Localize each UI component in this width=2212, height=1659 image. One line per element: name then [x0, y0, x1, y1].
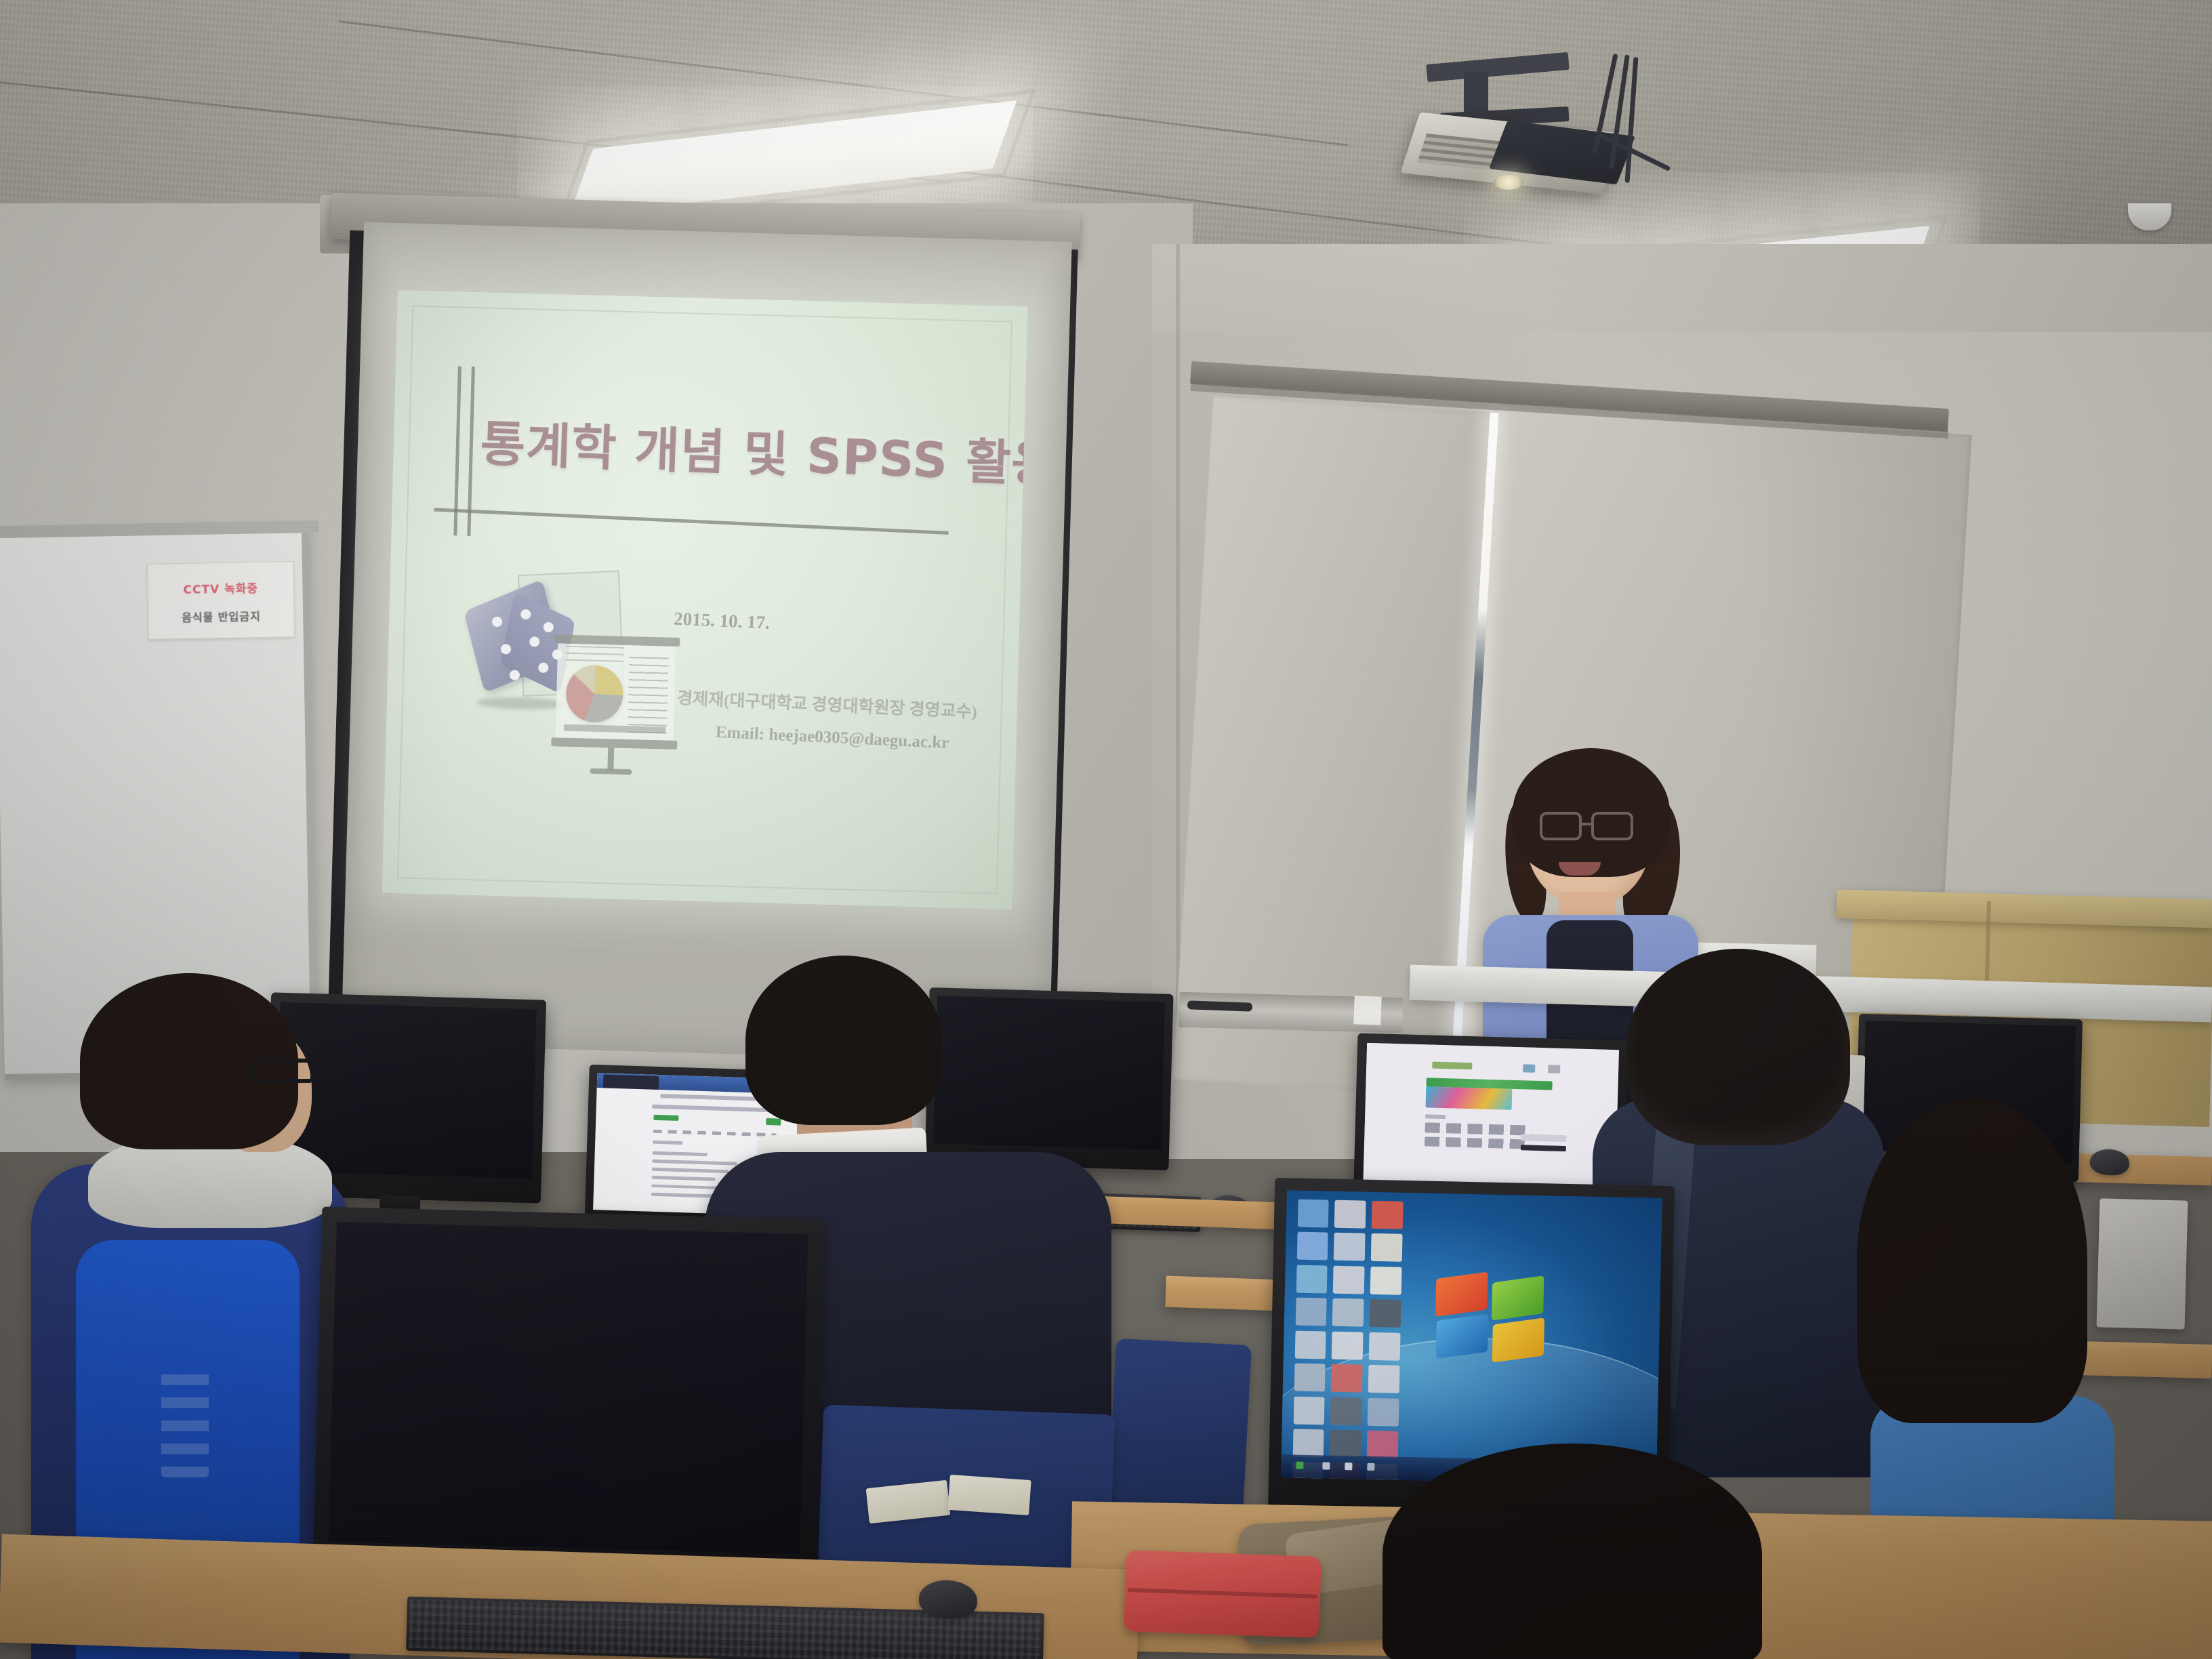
student-hair: [1626, 949, 1850, 1145]
windows-logo-icon: [1433, 1274, 1548, 1363]
page-badge: [766, 1118, 781, 1126]
cctv-notice-line1: CCTV 녹화중: [148, 578, 293, 598]
projector-mount-plate: [1426, 52, 1569, 82]
desktop-icon[interactable]: [1293, 1396, 1324, 1425]
desktop-icon-grid[interactable]: [1292, 1199, 1403, 1454]
desktop-icon[interactable]: [1294, 1364, 1325, 1392]
ceiling-projector: [1369, 47, 1660, 237]
glasses-icon: [1591, 812, 1633, 840]
glasses-icon: [252, 1059, 314, 1083]
glasses-bridge: [1582, 823, 1593, 825]
monitor-screen[interactable]: [1281, 1190, 1662, 1486]
monitor-screen[interactable]: [933, 996, 1165, 1149]
page-body: [1363, 1043, 1619, 1189]
right-wall-upper-band: [1152, 244, 2212, 332]
desktop-icon[interactable]: [1294, 1330, 1326, 1359]
classroom-photo: 통계학 개념 및 SPSS 활용법 2015. 10. 17. 경제재(대구대학…: [0, 0, 2212, 1659]
desktop-icon[interactable]: [1296, 1265, 1327, 1293]
page-banner-image: [1426, 1086, 1512, 1109]
desktop-icon[interactable]: [1369, 1332, 1400, 1361]
windows-logo-quadrant: [1435, 1271, 1488, 1316]
windows-logo-quadrant: [1436, 1314, 1489, 1359]
projected-slide: 통계학 개념 및 SPSS 활용법 2015. 10. 17. 경제재(대구대학…: [382, 290, 1028, 909]
browser-page: [1363, 1043, 1619, 1189]
desktop-icon[interactable]: [1296, 1232, 1328, 1261]
chart-board-foot: [590, 769, 632, 775]
desktop-icon[interactable]: [1292, 1429, 1324, 1458]
instructor-hair: [1513, 748, 1670, 877]
glasses-icon: [1540, 812, 1582, 840]
windows-logo-quadrant: [1492, 1275, 1544, 1320]
start-button-icon[interactable]: [1296, 1461, 1303, 1469]
taskbar-icon[interactable]: [1322, 1462, 1330, 1469]
paper-sheet: [947, 1475, 1031, 1515]
taskbar-icon[interactable]: [1345, 1462, 1352, 1470]
tray-tape-label: [1353, 996, 1381, 1025]
page-logo: [1432, 1061, 1473, 1069]
page-icon: [1548, 1065, 1561, 1073]
desktop-icon[interactable]: [1332, 1331, 1363, 1359]
wall-corner-edge: [1176, 244, 1180, 1057]
desktop-icon[interactable]: [1297, 1199, 1328, 1227]
chair[interactable]: [1107, 1338, 1252, 1528]
computer-tower: [2097, 1198, 2188, 1329]
slide-clipart-icon: [458, 563, 688, 793]
desktop-icon[interactable]: [1370, 1299, 1401, 1328]
chart-board-text-lines: [628, 651, 669, 733]
shirt-print: [161, 1362, 209, 1477]
desktop-icon[interactable]: [1330, 1397, 1361, 1425]
desktop-icon[interactable]: [1370, 1267, 1401, 1295]
desktop-icon[interactable]: [1333, 1265, 1364, 1294]
chart-board-icon: [551, 634, 680, 754]
monitor-off-center: [924, 987, 1173, 1170]
monitor-screen[interactable]: [329, 1222, 808, 1554]
desktop-icon[interactable]: [1330, 1430, 1361, 1458]
desktop-icon[interactable]: [1331, 1364, 1362, 1393]
windows7-desktop[interactable]: [1281, 1190, 1662, 1486]
chart-board-stand: [607, 747, 614, 771]
desktop-icon[interactable]: [1368, 1365, 1399, 1393]
monitor-screen[interactable]: [276, 1002, 537, 1179]
student-hair: [1857, 1098, 2087, 1423]
projector-lens: [1494, 175, 1523, 190]
slide-date: 2015. 10. 17.: [674, 609, 771, 634]
chart-board-text-lines: [566, 646, 625, 662]
windows-logo-quadrant: [1492, 1317, 1545, 1362]
page-text: [1425, 1114, 1446, 1119]
desktop-icon[interactable]: [1332, 1298, 1364, 1327]
monitor-off-foreground: SAMSUNG: [312, 1206, 823, 1599]
dice-shadow: [476, 696, 565, 710]
page-badge: [653, 1114, 679, 1120]
page-icon: [1523, 1064, 1536, 1073]
student-hair: [1382, 1443, 1762, 1659]
desktop-icon[interactable]: [1334, 1233, 1365, 1261]
cctv-notice-line2: 음식물 반입금지: [148, 607, 293, 626]
desktop-icon[interactable]: [1371, 1233, 1402, 1262]
desktop-icon[interactable]: [1295, 1298, 1326, 1326]
taskbar-icon[interactable]: [1368, 1462, 1375, 1470]
page-sidebar-box: [1521, 1134, 1566, 1142]
cctv-notice-sign: CCTV 녹화중 음식물 반입금지: [147, 561, 295, 640]
projector-mount-arm: [1464, 72, 1488, 115]
desktop-icon[interactable]: [1334, 1200, 1366, 1228]
desktop-icon[interactable]: [1368, 1397, 1399, 1426]
desktop-icon[interactable]: [1372, 1201, 1403, 1229]
desktop-icon[interactable]: [1367, 1431, 1398, 1459]
monitor-screen[interactable]: [1363, 1043, 1619, 1189]
student-hair: [745, 956, 942, 1125]
